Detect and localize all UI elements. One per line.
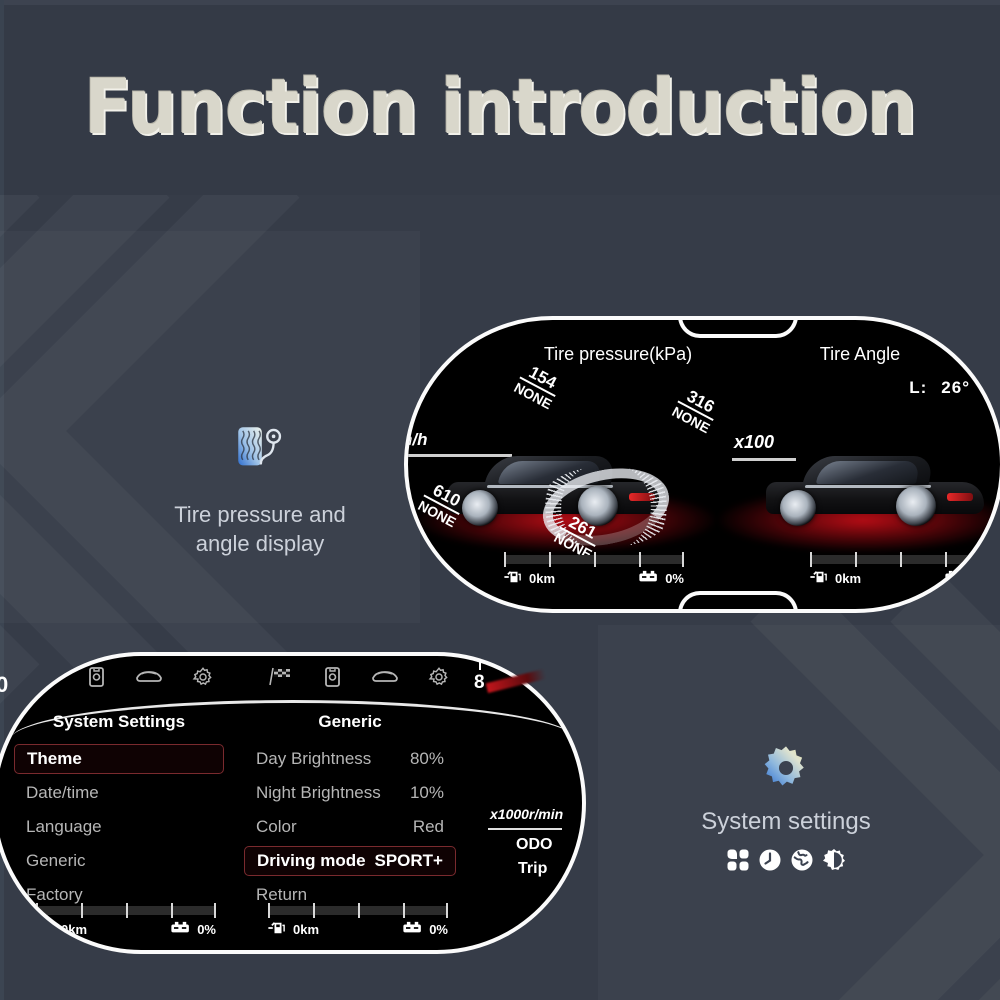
fuel-canister-icon[interactable]: [87, 666, 107, 693]
range-value: 0km: [835, 571, 861, 586]
status-bar-right: 0km 0%: [810, 555, 990, 587]
tire-pressure-cluster: Tire pressure(kPa) Tire Angle L:26° n/h …: [404, 316, 1000, 613]
fuel-gauge-bar: [810, 555, 990, 564]
fuel-pump-icon: [36, 921, 56, 938]
status-row: 0km 0%: [810, 570, 990, 587]
gauge-tick: [479, 659, 481, 670]
system-settings-menu: System Settings Theme Date/time Language…: [14, 712, 224, 914]
settings-nav-right[interactable]: [254, 666, 464, 693]
racing-flag-icon[interactable]: [32, 666, 58, 693]
fuel-gauge-bar: [36, 906, 216, 915]
gauge-number-left: 0: [0, 672, 8, 698]
menu-item-label: Generic: [26, 851, 212, 871]
menu-item-label: Color: [256, 817, 413, 837]
menu-item-driving-mode[interactable]: Driving mode SPORT+: [244, 846, 456, 876]
range-value: 0km: [61, 922, 87, 937]
menu-item-theme[interactable]: Theme: [14, 744, 224, 774]
fuel-pump-icon: [504, 570, 524, 587]
status-bar-left-bottom: 0km 0%: [36, 906, 216, 938]
menu-item-label: Theme: [27, 749, 211, 769]
menu-item-label: Return: [256, 885, 444, 905]
menu-item-label: Date/time: [26, 783, 212, 803]
menu-item-label: Driving mode: [257, 851, 375, 871]
fuel-canister-icon[interactable]: [323, 666, 343, 693]
range-value: 0km: [293, 922, 319, 937]
odo-label: ODO: [516, 836, 552, 854]
clock-icon: [758, 848, 782, 877]
trip-label: Trip: [518, 860, 547, 878]
menu-item-label: Night Brightness: [256, 783, 410, 803]
battery-value: 0%: [197, 922, 216, 937]
tire-caption-line2: angle display: [110, 529, 410, 558]
tire-label-front-left: 154 NONE: [512, 361, 565, 412]
battery-icon: [402, 921, 424, 938]
car-icon[interactable]: [371, 666, 399, 693]
tire-angle-heading: Tire Angle: [760, 344, 960, 365]
tire-angle-value: 26°: [941, 378, 970, 397]
menu-heading: Generic: [244, 712, 456, 732]
range-value: 0km: [529, 571, 555, 586]
speed-unit-label: n/h: [404, 430, 428, 450]
tire-pressure-gauge-icon: [231, 420, 289, 478]
menu-item-datetime[interactable]: Date/time: [14, 778, 224, 808]
fuel-pump-icon: [810, 570, 830, 587]
menu-item-color[interactable]: Color Red: [244, 812, 456, 842]
fuel-gauge-bar: [504, 555, 684, 564]
tire-caption: Tire pressure and angle display: [110, 420, 410, 558]
gauge-number-right: 8: [474, 672, 485, 694]
battery-icon: [638, 570, 660, 587]
tire-caption-line1: Tire pressure and: [110, 500, 410, 529]
settings-cluster: System Settings Theme Date/time Language…: [0, 652, 586, 954]
racing-flag-icon[interactable]: [268, 666, 294, 693]
fuel-pump-icon: [268, 921, 288, 938]
menu-item-label: Language: [26, 817, 212, 837]
header: Function introduction: [0, 0, 1000, 195]
lcd-notch-bottom: [678, 591, 798, 613]
car-wheel-front: [780, 490, 816, 526]
menu-item-value: Red: [413, 817, 444, 837]
menu-item-generic[interactable]: Generic: [14, 846, 224, 876]
page-title: Function introduction: [40, 62, 960, 151]
globe-icon: [790, 848, 814, 877]
system-settings-sub-icons: [655, 848, 917, 877]
menu-item-label: Factory: [26, 885, 212, 905]
car-glass: [816, 461, 920, 484]
tire-label-front-right: 316 NONE: [670, 385, 723, 436]
screenshot-root: Function introduction: [0, 0, 1000, 1000]
status-row: 0km 0%: [36, 921, 216, 938]
battery-icon: [170, 921, 192, 938]
lcd-notch-top: [678, 316, 798, 338]
settings-nav-left[interactable]: [18, 666, 228, 693]
battery-icon: [944, 570, 966, 587]
rpm-unit-label: x1000r/min: [490, 806, 563, 822]
menu-item-value: SPORT+: [375, 851, 444, 871]
system-settings-title: System settings: [655, 808, 917, 836]
car-right: [766, 438, 984, 528]
tire-pressure-heading: Tire pressure(kPa): [468, 344, 768, 365]
car-wheel-rear: [896, 486, 936, 526]
gear-icon[interactable]: [428, 666, 450, 693]
menu-item-value: 10%: [410, 783, 444, 803]
gear-icon[interactable]: [192, 666, 214, 693]
status-row: 0km 0%: [504, 570, 684, 587]
instrument-lcd-top: Tire pressure(kPa) Tire Angle L:26° n/h …: [404, 316, 1000, 613]
car-icon[interactable]: [135, 666, 163, 693]
menu-heading: System Settings: [14, 712, 224, 732]
instrument-lcd-bottom: System Settings Theme Date/time Language…: [0, 652, 586, 954]
generic-settings-menu: Generic Day Brightness 80% Night Brightn…: [244, 712, 456, 914]
menu-item-value: 80%: [410, 749, 444, 769]
gauge-number-value: 8: [474, 672, 485, 693]
menu-item-label: Day Brightness: [256, 749, 410, 769]
rpm-underline: [488, 828, 562, 830]
menu-item-night-brightness[interactable]: Night Brightness 10%: [244, 778, 456, 808]
status-row: 0km 0%: [268, 921, 448, 938]
car-taillight: [947, 493, 973, 501]
theme-clover-icon: [726, 848, 750, 877]
system-settings-caption: System settings: [655, 742, 917, 877]
brightness-icon: [822, 848, 846, 877]
status-bar-left: 0km 0%: [504, 555, 684, 587]
menu-item-day-brightness[interactable]: Day Brightness 80%: [244, 744, 456, 774]
battery-value: 0%: [429, 922, 448, 937]
car-wheel-front: [462, 490, 498, 526]
tire-angle-readout: L:26°: [909, 378, 970, 398]
status-bar-right-bottom: 0km 0%: [268, 906, 448, 938]
tire-angle-label: L:: [909, 378, 927, 397]
battery-value: 0%: [665, 571, 684, 586]
menu-item-language[interactable]: Language: [14, 812, 224, 842]
fuel-gauge-bar: [268, 906, 448, 915]
battery-value: 0%: [971, 571, 990, 586]
gear-icon: [760, 742, 812, 794]
